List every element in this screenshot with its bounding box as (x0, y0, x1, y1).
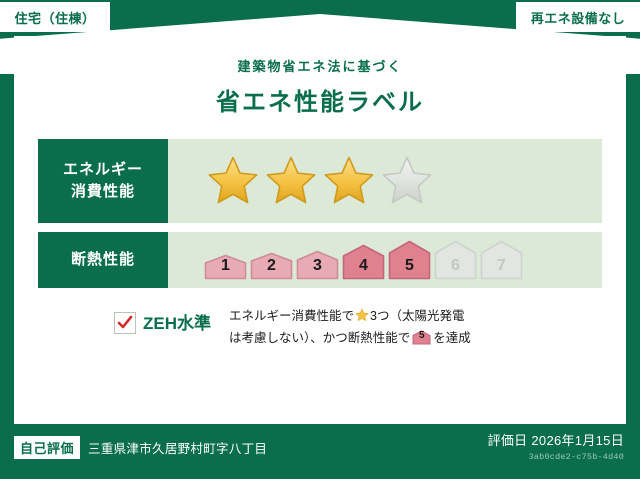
renewable-tag: 再エネ設備なし (516, 2, 640, 32)
footer: 自己評価 三重県津市久居野村町字八丁目 評価日 2026年1月15日 3ab0c… (0, 424, 640, 479)
star-filled-icon (322, 154, 376, 208)
label-canvas: 住宅（住棟） 再エネ設備なし 建築物省エネ法に基づく 省エネ性能ラベル エネルギ… (0, 0, 640, 479)
insulation-level-4: 4 (342, 244, 385, 280)
building-type-label: 住宅（住棟） (14, 8, 95, 27)
insulation-level-5: 5 (388, 240, 431, 280)
label-card: 建築物省エネ法に基づく 省エネ性能ラベル エネルギー 消費性能 断熱性能 (14, 36, 626, 424)
energy-performance-value (168, 139, 602, 223)
property-address: 三重県津市久居野村町字八丁目 (88, 438, 267, 457)
building-type-tag: 住宅（住棟） (0, 2, 110, 32)
insulation-performance-label: 断熱性能 (38, 232, 168, 288)
zeh-description-line1: エネルギー消費性能で3つ（太陽光発電 (229, 306, 471, 328)
star-rating (168, 154, 434, 208)
zeh-desc-text-1b: 3つ（太陽光発電 (370, 309, 464, 323)
insulation-level-1: 1 (204, 254, 247, 280)
insulation-label-text: 断熱性能 (71, 249, 135, 271)
insulation-level-6: 6 (434, 240, 477, 280)
energy-label-line1: エネルギー (63, 159, 143, 181)
insulation-level-number: 3 (296, 257, 339, 275)
check-icon (117, 315, 133, 331)
star-filled-icon (206, 154, 260, 208)
zeh-description: エネルギー消費性能で3つ（太陽光発電 は考慮しない）、かつ断熱性能で5を達成 (229, 306, 471, 350)
page-title: 省エネ性能ラベル (14, 82, 626, 117)
inline-star-icon (355, 308, 369, 322)
metrics-section: エネルギー 消費性能 断熱性能 1234567 (38, 139, 602, 288)
insulation-performance-row: 断熱性能 1234567 (38, 232, 602, 288)
self-evaluation-badge: 自己評価 (14, 436, 80, 459)
footer-left: 自己評価 三重県津市久居野村町字八丁目 (14, 436, 267, 459)
insulation-level-number: 7 (480, 257, 523, 275)
insulation-level-number: 4 (342, 257, 385, 275)
renewable-label: 再エネ設備なし (531, 8, 626, 27)
inline-house-number: 5 (412, 327, 431, 345)
zeh-standard-label: ZEH水準 (143, 309, 211, 334)
energy-label-line2: 消費性能 (71, 181, 135, 203)
insulation-level-2: 2 (250, 252, 293, 280)
zeh-desc-text-2b: を達成 (433, 331, 471, 345)
insulation-performance-value: 1234567 (168, 232, 602, 288)
zeh-description-line2: は考慮しない）、かつ断熱性能で5を達成 (229, 328, 471, 350)
zeh-checkbox[interactable] (114, 312, 136, 334)
zeh-section: ZEH水準 エネルギー消費性能で3つ（太陽光発電 は考慮しない）、かつ断熱性能で… (114, 306, 626, 350)
insulation-level-number: 1 (204, 257, 247, 275)
footer-right: 評価日 2026年1月15日 3ab0cde2-c75b-4d40 (488, 430, 624, 462)
insulation-level-number: 5 (388, 257, 431, 275)
title-subtitle: 建築物省エネ法に基づく (14, 56, 626, 75)
inline-house-badge: 5 (412, 330, 431, 345)
energy-performance-label: エネルギー 消費性能 (38, 139, 168, 223)
title-block: 建築物省エネ法に基づく 省エネ性能ラベル (14, 56, 626, 117)
insulation-level-number: 2 (250, 257, 293, 275)
insulation-level-7: 7 (480, 240, 523, 280)
insulation-scale: 1234567 (168, 240, 523, 280)
insulation-level-number: 6 (434, 257, 477, 275)
evaluation-date: 評価日 2026年1月15日 (488, 430, 624, 449)
insulation-level-3: 3 (296, 250, 339, 280)
energy-performance-row: エネルギー 消費性能 (38, 139, 602, 223)
zeh-desc-text-2a: は考慮しない）、かつ断熱性能で (229, 331, 410, 345)
zeh-desc-text-1a: エネルギー消費性能で (229, 309, 354, 323)
evaluation-id: 3ab0cde2-c75b-4d40 (488, 452, 624, 462)
star-empty-icon (380, 154, 434, 208)
star-filled-icon (264, 154, 318, 208)
